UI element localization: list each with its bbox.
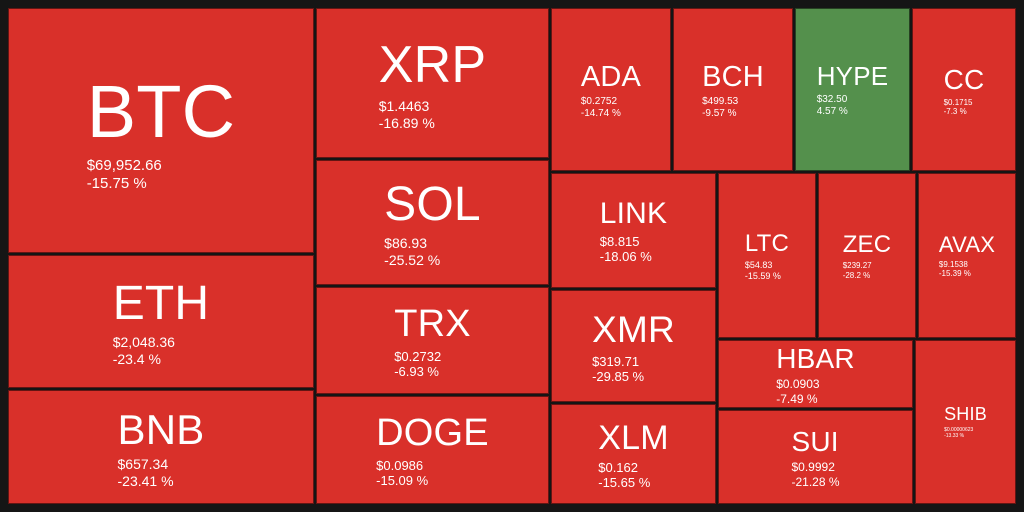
heatmap-tile-sui[interactable]: SUI$0.9992-21.28 % [718,410,913,504]
tile-content: CC$0.1715-7.3 % [944,63,985,117]
tile-content: BNB$657.34-23.41 % [118,405,205,490]
heatmap-tile-bch[interactable]: BCH$499.53-9.57 % [673,8,793,171]
tile-price: $54.83 [745,260,773,271]
tile-change: -15.75 % [87,175,147,193]
tile-price: $8.815 [600,234,640,249]
tile-content: AVAX$9.1538-15.39 % [939,232,995,279]
tile-content: ETH$2,048.36-23.4 % [113,276,210,368]
tile-content: XMR$319.71-29.85 % [592,308,675,384]
tile-content: LTC$54.83-15.59 % [745,230,789,282]
heatmap-tile-cc[interactable]: CC$0.1715-7.3 % [912,8,1016,171]
tile-symbol: XLM [598,418,669,458]
heatmap-tile-link[interactable]: LINK$8.815-18.06 % [551,173,716,288]
tile-symbol: ADA [581,60,641,94]
tile-change: -9.57 % [702,108,736,120]
crypto-heatmap: BTC$69,952.66-15.75 %ETH$2,048.36-23.4 %… [0,0,1024,512]
heatmap-tile-avax[interactable]: AVAX$9.1538-15.39 % [918,173,1016,338]
heatmap-tile-ltc[interactable]: LTC$54.83-15.59 % [718,173,816,338]
heatmap-tile-bnb[interactable]: BNB$657.34-23.41 % [8,390,314,504]
tile-price: $657.34 [118,456,169,473]
tile-price: $0.1715 [944,98,973,107]
tile-symbol: HYPE [817,61,889,92]
heatmap-tile-doge[interactable]: DOGE$0.0986-15.09 % [316,396,549,504]
tile-price: $499.53 [702,96,738,108]
heatmap-tile-ada[interactable]: ADA$0.2752-14.74 % [551,8,671,171]
tile-symbol: LTC [745,230,789,258]
tile-price: $319.71 [592,354,639,369]
tile-change: -23.41 % [118,473,174,490]
tile-change: -14.74 % [581,108,621,120]
tile-change: -7.49 % [776,392,817,406]
tile-content: ZEC$239.27-28.2 % [843,231,892,280]
tile-change: -15.59 % [745,271,781,282]
tile-price: $0.2752 [581,96,617,108]
tile-change: -23.4 % [113,351,161,368]
heatmap-tile-hype[interactable]: HYPE$32.504.57 % [795,8,910,171]
tile-price: $0.2732 [394,349,441,364]
tile-change: -28.2 % [843,271,871,280]
tile-symbol: ZEC [843,231,892,259]
tile-change: -13.33 % [944,434,964,440]
tile-price: $32.50 [817,94,848,106]
tile-change: -7.3 % [944,107,967,116]
tile-price: $0.9992 [791,460,834,474]
heatmap-tile-hbar[interactable]: HBAR$0.0903-7.49 % [718,340,913,408]
tile-change: -16.89 % [379,115,435,132]
tile-symbol: XRP [379,35,487,96]
heatmap-tile-trx[interactable]: TRX$0.2732-6.93 % [316,287,549,394]
tile-content: XRP$1.4463-16.89 % [379,35,487,131]
tile-content: SOL$86.93-25.52 % [384,177,481,269]
tile-price: $69,952.66 [87,157,162,175]
tile-symbol: BNB [118,405,205,455]
tile-symbol: CC [944,63,985,96]
tile-change: -15.65 % [598,475,650,490]
tile-change: -6.93 % [394,364,439,379]
tile-symbol: ETH [113,276,210,333]
tile-symbol: HBAR [776,342,855,375]
tile-price: $86.93 [384,235,427,252]
tile-content: DOGE$0.0986-15.09 % [376,411,489,488]
tile-price: $1.4463 [379,98,430,115]
tile-symbol: LINK [600,196,668,231]
tile-symbol: SOL [384,177,481,234]
tile-change: -18.06 % [600,249,652,264]
tile-symbol: SHIB [944,404,987,425]
heatmap-tile-btc[interactable]: BTC$69,952.66-15.75 % [8,8,314,253]
tile-change: -25.52 % [384,252,440,269]
heatmap-tile-xlm[interactable]: XLM$0.162-15.65 % [551,404,716,504]
heatmap-tile-shib[interactable]: SHIB$0.00000623-13.33 % [915,340,1016,504]
heatmap-tile-zec[interactable]: ZEC$239.27-28.2 % [818,173,916,338]
tile-content: HBAR$0.0903-7.49 % [776,342,855,405]
tile-content: XLM$0.162-15.65 % [598,418,669,491]
tile-price: $2,048.36 [113,334,175,351]
tile-change: -15.09 % [376,473,428,488]
heatmap-tile-xrp[interactable]: XRP$1.4463-16.89 % [316,8,549,158]
tile-symbol: BCH [702,60,764,94]
tile-symbol: TRX [394,302,471,347]
tile-change: -29.85 % [592,369,644,384]
tile-symbol: XMR [592,308,675,352]
tile-price: $0.0986 [376,458,423,473]
tile-price: $0.0903 [776,377,819,391]
heatmap-tile-xmr[interactable]: XMR$319.71-29.85 % [551,290,716,402]
tile-content: HYPE$32.504.57 % [817,61,889,117]
tile-content: SUI$0.9992-21.28 % [791,425,839,488]
tile-content: BTC$69,952.66-15.75 % [87,68,236,193]
tile-content: ADA$0.2752-14.74 % [581,60,641,120]
tile-content: LINK$8.815-18.06 % [600,196,668,264]
tile-content: BCH$499.53-9.57 % [702,60,764,120]
tile-symbol: SUI [791,425,838,458]
tile-symbol: DOGE [376,411,489,456]
heatmap-tile-eth[interactable]: ETH$2,048.36-23.4 % [8,255,314,388]
tile-symbol: BTC [87,68,236,155]
tile-price: $239.27 [843,261,872,270]
tile-price: $9.1538 [939,260,968,269]
tile-content: SHIB$0.00000623-13.33 % [944,404,987,439]
tile-change: 4.57 % [817,106,848,118]
tile-symbol: AVAX [939,232,995,258]
heatmap-tile-sol[interactable]: SOL$86.93-25.52 % [316,160,549,285]
tile-price: $0.162 [598,460,638,475]
tile-change: -21.28 % [791,475,839,489]
tile-content: TRX$0.2732-6.93 % [394,302,471,379]
tile-change: -15.39 % [939,269,971,278]
